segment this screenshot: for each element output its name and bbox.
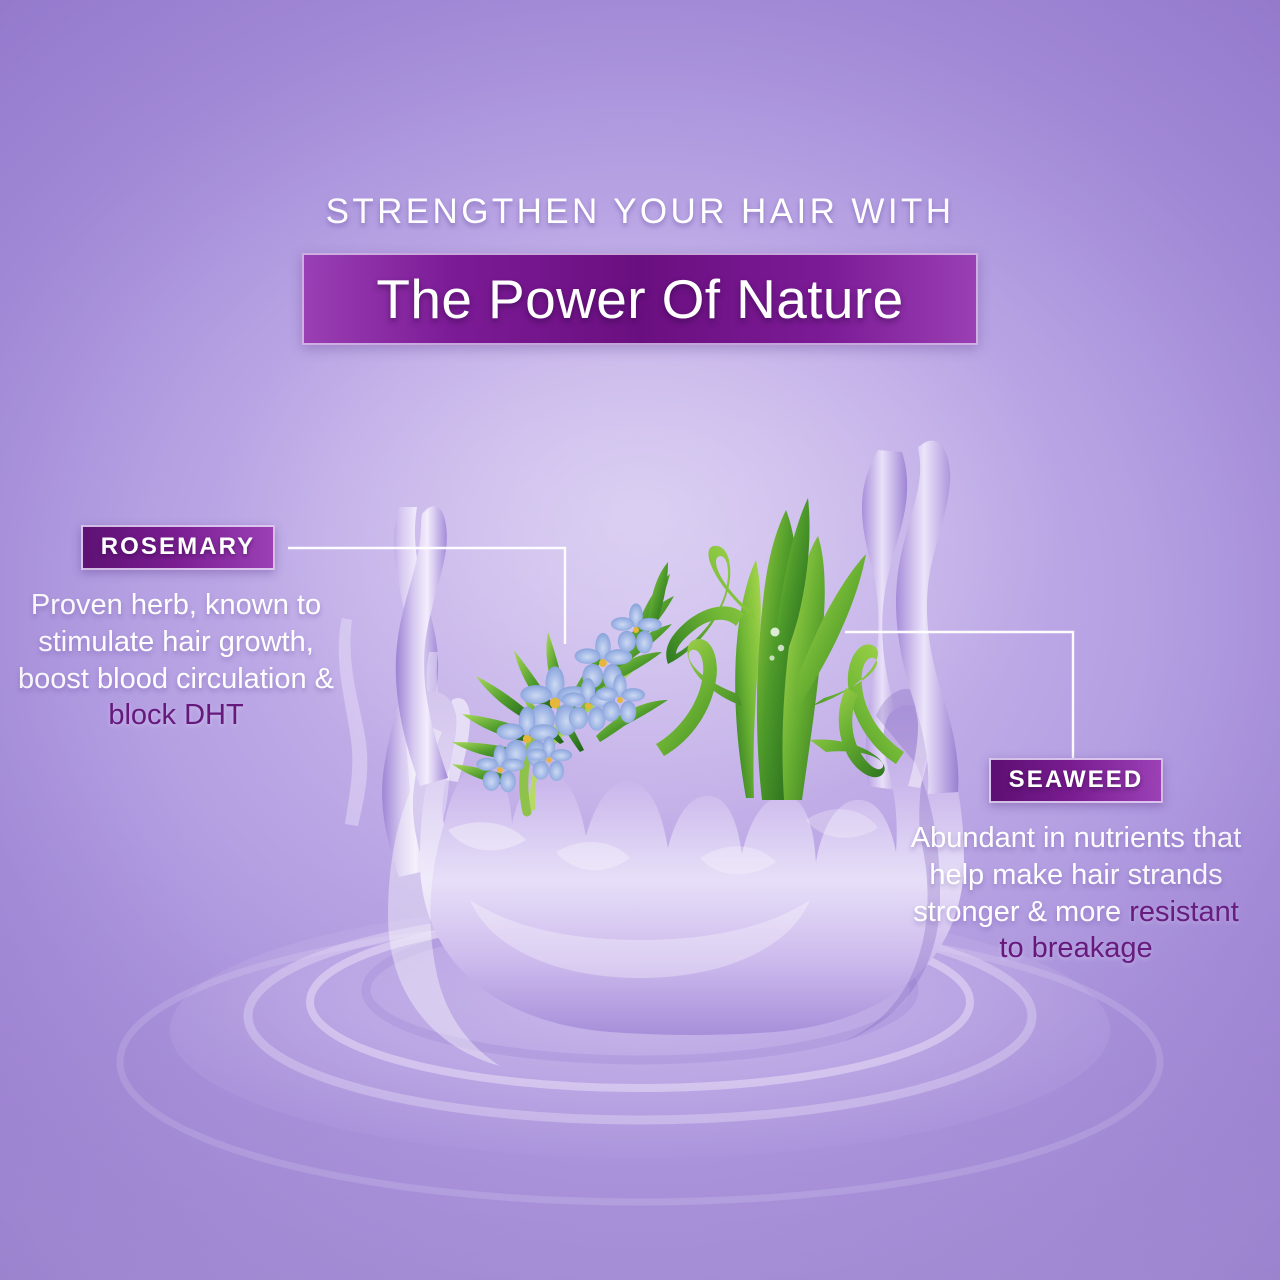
background-vignette [0, 0, 1280, 1280]
promo-canvas: STRENGTHEN YOUR HAIR WITH The Power Of N… [0, 0, 1280, 1280]
